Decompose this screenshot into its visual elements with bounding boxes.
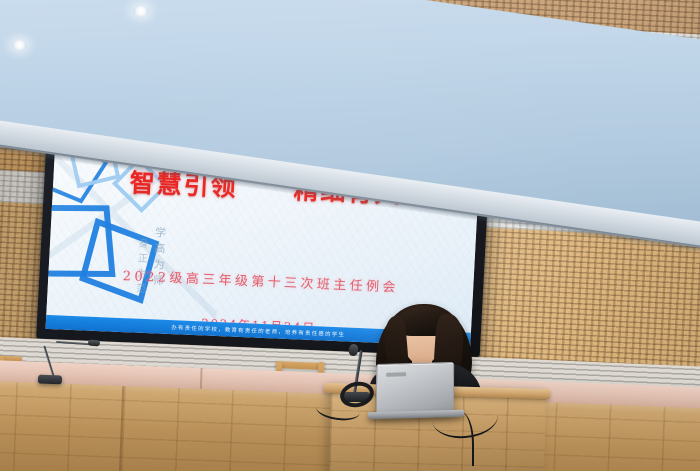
laptop-screen-lid[interactable]: [376, 362, 454, 416]
slide-footer-text: 办有责任的学校，教育有责任的老师，培养有责任感的学生: [171, 323, 345, 338]
microphone-capsule-icon: [88, 340, 100, 347]
laptop-brand-logo: [386, 372, 406, 377]
lecture-hall-photo: 合肥市第七中学 教育局直属: [0, 0, 700, 471]
ceiling-downlight-icon: [133, 6, 149, 16]
microphone-base: [38, 375, 62, 385]
ceiling-downlight-icon: [12, 40, 27, 50]
